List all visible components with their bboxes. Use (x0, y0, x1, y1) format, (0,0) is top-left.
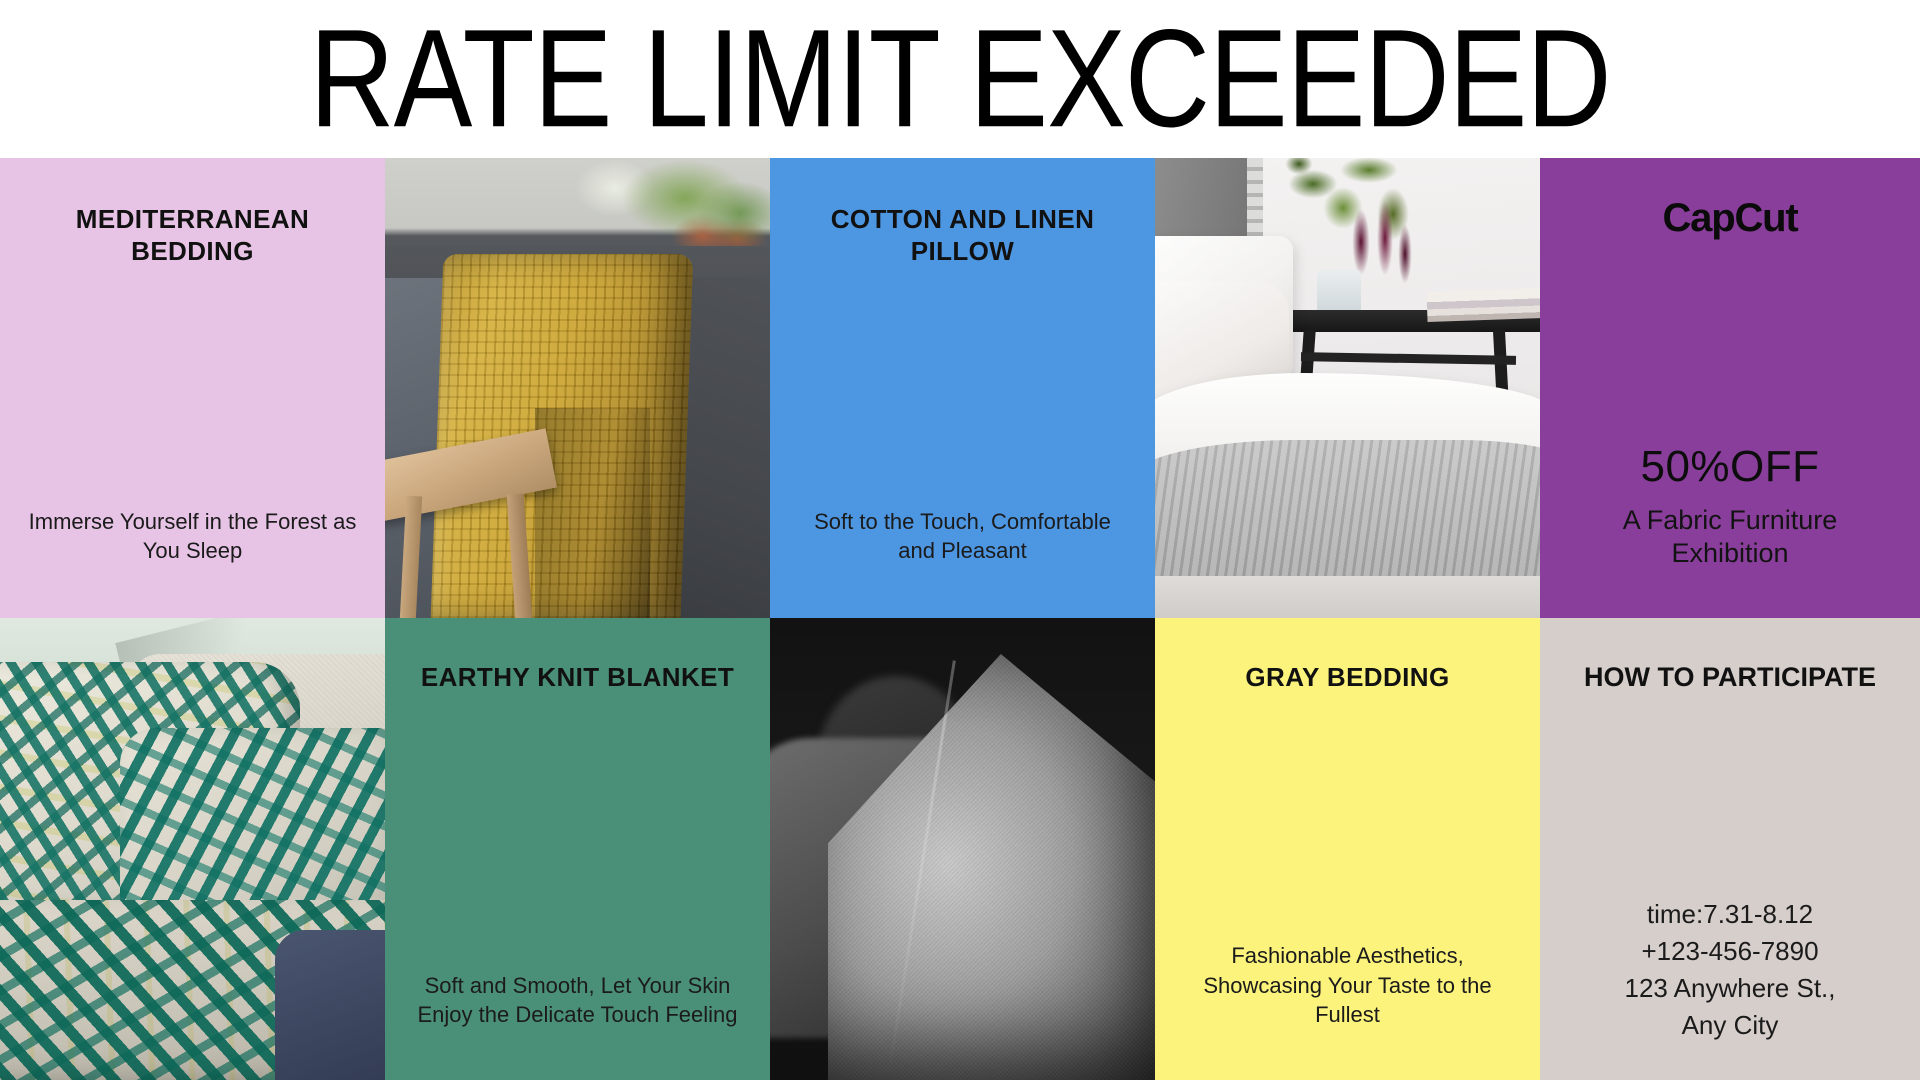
contact-details: time:7.31-8.12 +123-456-7890 123 Anywher… (1562, 896, 1898, 1044)
side-table-shelf-shape (1301, 352, 1516, 365)
promo-discount: 50%OFF (1640, 442, 1819, 492)
cotton-linen-body: Soft to the Touch, Comfortable and Pleas… (794, 507, 1131, 566)
event-time: time:7.31-8.12 (1562, 896, 1898, 933)
gray-bedding-body: Fashionable Aesthetics, Showcasing Your … (1179, 941, 1516, 1030)
photo-grey-linen-pillow (770, 618, 1155, 1080)
earthy-knit-heading: EARTHY KNIT BLANKET (421, 662, 734, 694)
promo-subtitle: A Fabric Furniture Exhibition (1562, 504, 1898, 570)
navy-fabric-shape (275, 930, 385, 1080)
banner: RATE LIMIT EXCEEDED (0, 0, 1920, 158)
page-title: RATE LIMIT EXCEEDED (309, 9, 1610, 148)
card-earthy-knit-blanket[interactable]: EARTHY KNIT BLANKET Soft and Smooth, Let… (385, 618, 770, 1080)
earthy-knit-body: Soft and Smooth, Let Your Skin Enjoy the… (409, 971, 746, 1030)
mediterranean-heading: MEDITERRANEAN BEDDING (24, 204, 361, 267)
capcut-logo: CapCut (1662, 196, 1797, 241)
poster-root: RATE LIMIT EXCEEDED MEDITERRANEAN BEDDIN… (0, 0, 1920, 1080)
throw-fold-shadow (535, 408, 650, 618)
card-mediterranean-bedding[interactable]: MEDITERRANEAN BEDDING Immerse Yourself i… (0, 158, 385, 618)
photo-tropical-leaf-pillows (0, 618, 385, 1080)
phone-number: +123-456-7890 (1562, 933, 1898, 970)
photo-knit-blanket (385, 158, 770, 618)
card-gray-bedding[interactable]: GRAY BEDDING Fashionable Aesthetics, Sho… (1155, 618, 1540, 1080)
collage-grid: MEDITERRANEAN BEDDING Immerse Yourself i… (0, 158, 1920, 1080)
photo-bedroom (1155, 158, 1540, 618)
card-cotton-and-linen-pillow[interactable]: COTTON AND LINEN PILLOW Soft to the Touc… (770, 158, 1155, 618)
floor-shape (1155, 576, 1540, 618)
gray-bedding-heading: GRAY BEDDING (1245, 662, 1449, 694)
stacked-books-shape (1427, 288, 1540, 322)
address-line-1: 123 Anywhere St., (1562, 970, 1898, 1007)
mediterranean-body: Immerse Yourself in the Forest as You Sl… (24, 507, 361, 566)
cotton-linen-heading: COTTON AND LINEN PILLOW (794, 204, 1131, 267)
card-promo-capcut[interactable]: CapCut 50%OFF A Fabric Furniture Exhibit… (1540, 158, 1920, 618)
card-how-to-participate[interactable]: HOW TO PARTICIPATE time:7.31-8.12 +123-4… (1540, 618, 1920, 1080)
how-to-participate-heading: HOW TO PARTICIPATE (1584, 660, 1876, 694)
address-line-2: Any City (1562, 1007, 1898, 1044)
